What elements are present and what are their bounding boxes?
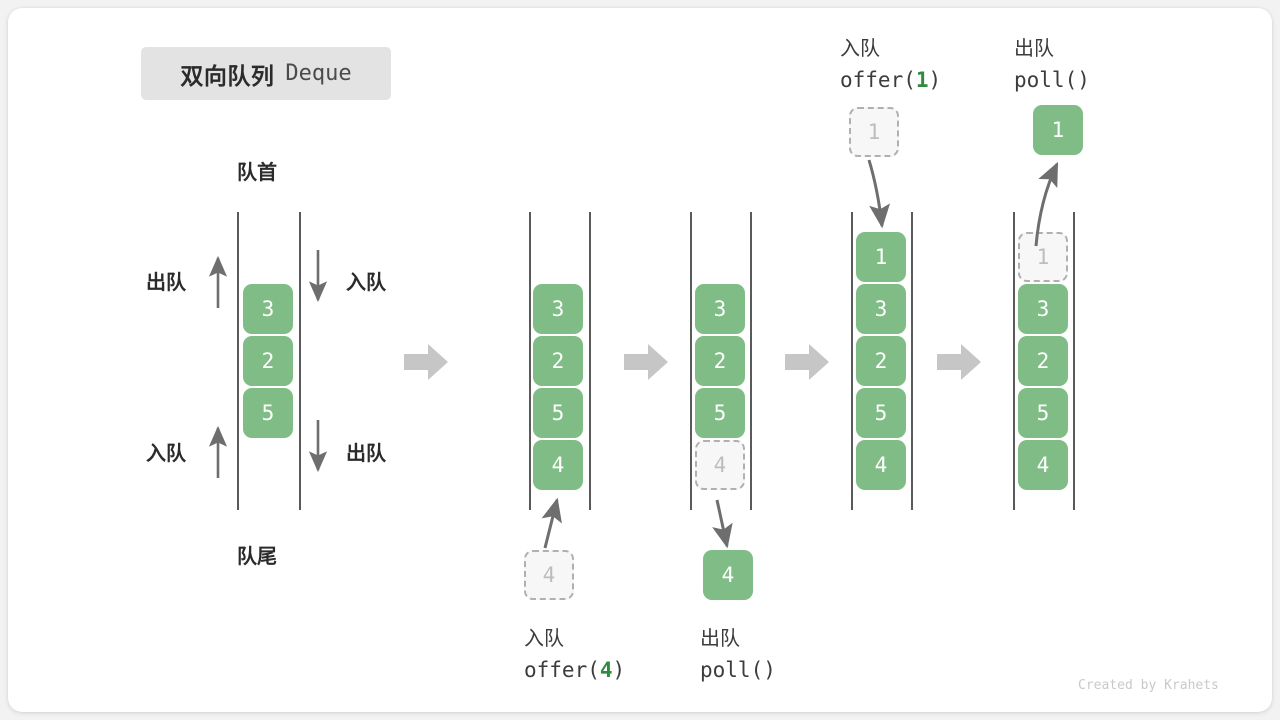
step-arrow-3 <box>785 342 829 382</box>
panel2-cell-0: 3 <box>533 284 583 334</box>
step-arrow-2 <box>624 342 668 382</box>
title-badge: 双向队列 Deque <box>141 47 391 100</box>
panel5-op-code: poll() <box>1014 68 1090 92</box>
panel1-rail-left <box>237 212 239 510</box>
panel5-rail-right <box>1073 212 1075 510</box>
panel3-cell-1: 2 <box>695 336 745 386</box>
panel4-cell-2: 2 <box>856 336 906 386</box>
panel3-ghost-cell: 4 <box>695 440 745 490</box>
panel1-cell-2: 5 <box>243 388 293 438</box>
queue-tail-label: 队尾 <box>237 540 277 569</box>
panel2-op-code: offer(4) <box>524 658 625 682</box>
credit-text: Created by Krahets <box>1078 678 1219 693</box>
panel1-bottom-right-label: 出队 <box>346 437 386 466</box>
panel2-cell-3: 4 <box>533 440 583 490</box>
panel1-top-right-label: 入队 <box>346 266 386 295</box>
panel3-cell-2: 5 <box>695 388 745 438</box>
panel3-cell-0: 3 <box>695 284 745 334</box>
panel5-op-code-suffix: ) <box>1077 68 1090 92</box>
panel1-top-left-label: 出队 <box>146 266 186 295</box>
panel2-cell-2: 5 <box>533 388 583 438</box>
panel5-cell-3: 4 <box>1018 440 1068 490</box>
panel4-cell-4: 4 <box>856 440 906 490</box>
panel5-op-label: 出队 <box>1014 32 1054 61</box>
panel3-op-code-prefix: poll( <box>700 658 763 682</box>
panel2-rail-right <box>589 212 591 510</box>
panel2-rail-left <box>529 212 531 510</box>
panel3-outgoing-cell: 4 <box>703 550 753 600</box>
panel2-op-code-prefix: offer( <box>524 658 600 682</box>
panel3-rail-left <box>690 212 692 510</box>
panel3-rail-right <box>750 212 752 510</box>
step-arrow-4 <box>937 342 981 382</box>
panel4-op-code-prefix: offer( <box>840 68 916 92</box>
title-english: Deque <box>285 61 351 86</box>
title-chinese: 双向队列 <box>180 57 274 91</box>
step-arrow-1 <box>404 342 448 382</box>
panel2-cell-1: 2 <box>533 336 583 386</box>
panel1-rail-right <box>299 212 301 510</box>
panel5-op-code-prefix: poll( <box>1014 68 1077 92</box>
panel5-ghost-cell: 1 <box>1018 232 1068 282</box>
panel4-op-code-arg: 1 <box>916 68 929 92</box>
panel4-op-label: 入队 <box>840 32 880 61</box>
panel5-outgoing-cell: 1 <box>1033 105 1083 155</box>
panel3-op-code: poll() <box>700 658 776 682</box>
panel1-cell-1: 2 <box>243 336 293 386</box>
panel5-cell-0: 3 <box>1018 284 1068 334</box>
queue-head-label: 队首 <box>237 156 277 185</box>
panel5-cell-1: 2 <box>1018 336 1068 386</box>
panel4-incoming-ghost-cell: 1 <box>849 107 899 157</box>
panel2-op-code-arg: 4 <box>600 658 613 682</box>
panel4-cell-3: 5 <box>856 388 906 438</box>
panel4-op-code-suffix: ) <box>929 68 942 92</box>
panel5-cell-2: 5 <box>1018 388 1068 438</box>
panel2-op-code-suffix: ) <box>613 658 626 682</box>
panel2-incoming-ghost-cell: 4 <box>524 550 574 600</box>
panel1-bottom-left-label: 入队 <box>146 437 186 466</box>
panel2-op-label: 入队 <box>524 622 564 651</box>
diagram-canvas: 双向队列 Deque 队首 队尾 出队 入队 入队 出队 3 2 5 3 2 5… <box>0 0 1280 720</box>
panel4-rail-left <box>851 212 853 510</box>
panel4-op-code: offer(1) <box>840 68 941 92</box>
panel3-op-label: 出队 <box>700 622 740 651</box>
panel1-cell-0: 3 <box>243 284 293 334</box>
panel4-cell-0: 1 <box>856 232 906 282</box>
panel3-op-code-suffix: ) <box>763 658 776 682</box>
panel5-rail-left <box>1013 212 1015 510</box>
panel4-cell-1: 3 <box>856 284 906 334</box>
panel4-rail-right <box>911 212 913 510</box>
